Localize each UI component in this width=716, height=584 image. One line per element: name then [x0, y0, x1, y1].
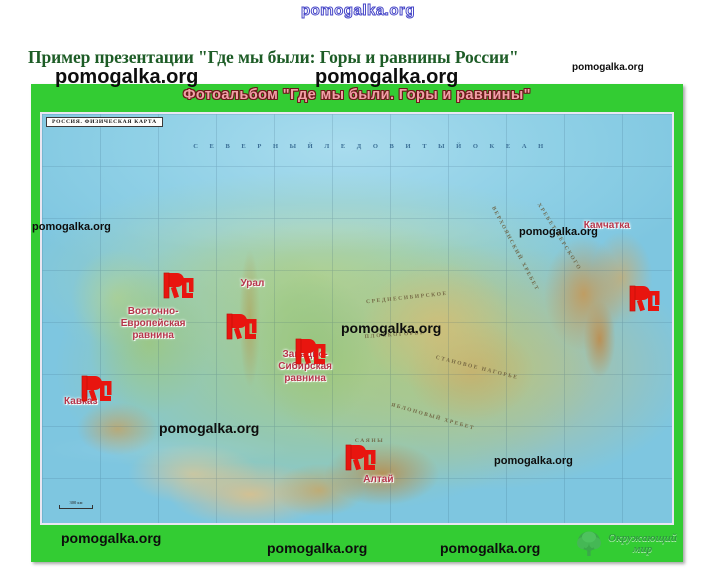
- photo-marker-icon[interactable]: [344, 441, 378, 473]
- page-title: Пример презентации "Где мы были: Горы и …: [28, 47, 688, 68]
- slide-title: Фотоальбом "Где мы были. Горы и равнины": [31, 87, 683, 103]
- photo-marker-icon[interactable]: [225, 310, 259, 342]
- okruzhayushchiy-mir-logo: Окружающий мир: [574, 529, 677, 559]
- presentation-slide: Фотоальбом "Где мы были. Горы и равнины"…: [31, 84, 683, 562]
- photo-marker-icon[interactable]: [162, 269, 196, 301]
- map-container[interactable]: РОССИЯ. ФИЗИЧЕСКАЯ КАРТА С Е В Е Р Н Ы Й…: [40, 112, 674, 525]
- map-scale-bar: 300 км: [59, 501, 93, 509]
- logo-line-2: мир: [608, 544, 677, 555]
- map-legend-title: РОССИЯ. ФИЗИЧЕСКАЯ КАРТА: [46, 117, 163, 127]
- photo-marker-icon[interactable]: [628, 282, 662, 314]
- tree-icon: [574, 529, 604, 559]
- physical-map-of-russia[interactable]: РОССИЯ. ФИЗИЧЕСКАЯ КАРТА С Е В Е Р Н Ы Й…: [42, 114, 672, 523]
- photo-marker-icon[interactable]: [294, 335, 328, 367]
- photo-marker-icon[interactable]: [80, 372, 114, 404]
- watermark-top: pomogalka.org: [0, 2, 716, 19]
- logo-text: Окружающий мир: [608, 533, 677, 555]
